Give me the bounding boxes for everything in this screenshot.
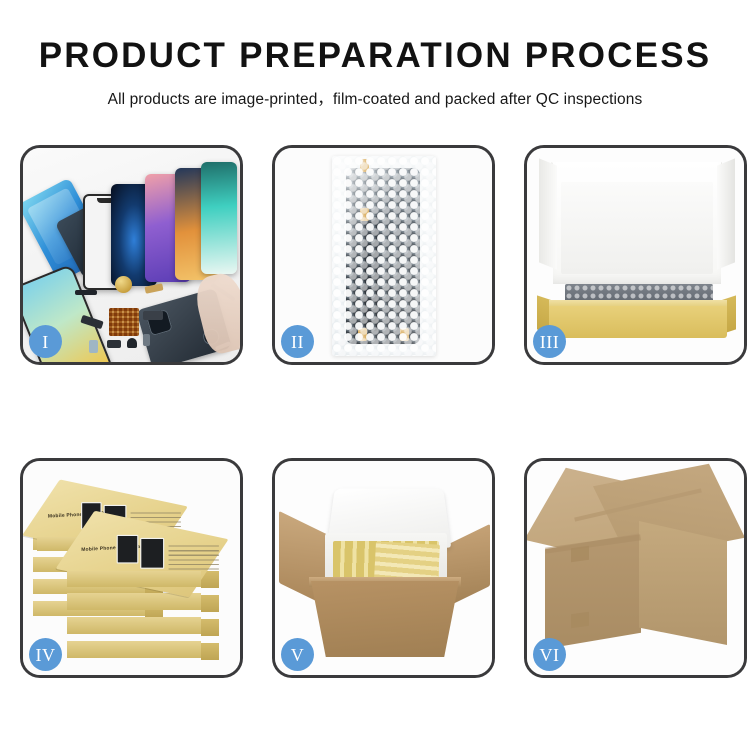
step-panel-4: Mobile Phone Spare Parts [20, 458, 243, 678]
box-front-face [67, 617, 201, 634]
page-subtitle: All products are image-printed，film-coat… [0, 87, 750, 109]
step-badge-2: II [281, 325, 314, 358]
header: PRODUCT PREPARATION PROCESS All products… [0, 0, 750, 109]
box-front-face [67, 641, 201, 658]
step-panel-2: II [272, 145, 495, 365]
part-speaker [127, 338, 137, 348]
foam-sheet [561, 182, 713, 274]
carton-tape-lower [571, 612, 589, 629]
part-module-b [89, 340, 98, 353]
label-spec-lines [169, 544, 219, 569]
step-badge-5: V [281, 638, 314, 671]
box-front-face [67, 571, 201, 587]
label-screen-thumb-1 [117, 535, 139, 564]
part-module-a [107, 340, 121, 348]
box-stack: Mobile Phone Spare Parts [31, 479, 237, 665]
step-badge-4: IV [29, 638, 62, 671]
label-screen-thumb-2 [140, 538, 164, 569]
box-front-yellow [549, 306, 727, 338]
step-panel-1: I [20, 145, 243, 365]
step-badge-1: I [29, 325, 62, 358]
part-speaker-coil [115, 276, 132, 293]
step-panel-3: III [524, 145, 747, 365]
part-flex-cable-b [143, 311, 163, 320]
box-side-face [201, 643, 219, 660]
part-chip-array [109, 308, 139, 336]
step-badge-3: III [533, 325, 566, 358]
part-connector-bar [75, 290, 97, 295]
box-side-face [201, 595, 219, 612]
page-title: PRODUCT PREPARATION PROCESS [0, 38, 750, 75]
carton-tape-upper [571, 546, 589, 563]
process-steps-grid: I II [20, 145, 730, 680]
carton-body [311, 581, 459, 657]
part-module-c [143, 334, 150, 346]
plastic-sheen [332, 156, 436, 356]
box-side-face [201, 619, 219, 636]
carton-right-face [639, 521, 727, 645]
step-panel-5: V [272, 458, 495, 678]
screen-teal-wallpaper [201, 162, 237, 274]
product-preparation-infographic: PRODUCT PREPARATION PROCESS All products… [0, 0, 750, 750]
bubble-wrap-pack [332, 156, 436, 356]
step-panel-6: VI [524, 458, 747, 678]
step-badge-6: VI [533, 638, 566, 671]
